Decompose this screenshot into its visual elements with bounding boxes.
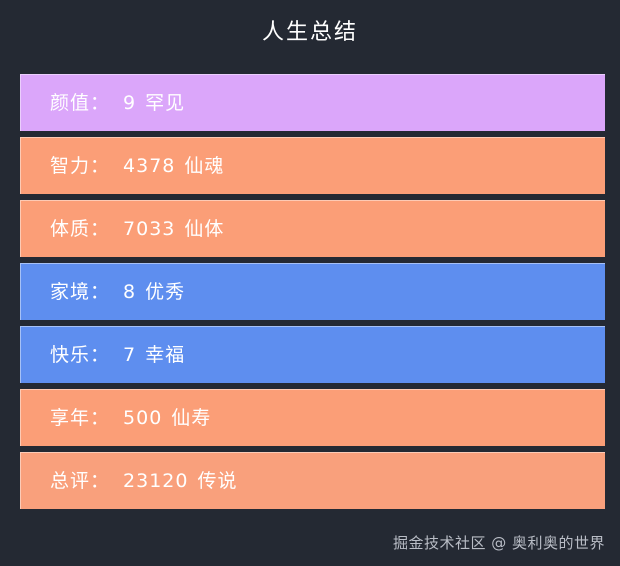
stat-label: 智力： [50, 157, 110, 176]
stat-rank: 仙魂 [184, 157, 224, 176]
stat-rank: 幸福 [145, 346, 185, 365]
stat-label: 快乐： [50, 346, 110, 365]
stat-text: 快乐：7幸福 [21, 346, 185, 365]
stat-value: 500 [123, 409, 162, 428]
stat-text: 享年：500仙寿 [21, 409, 211, 428]
stat-value: 4378 [123, 157, 175, 176]
stat-label: 享年： [50, 409, 110, 428]
page-title: 人生总结 [0, 0, 620, 44]
stat-label: 家境： [50, 283, 110, 302]
stat-text: 智力：4378仙魂 [21, 157, 224, 176]
stat-row: 家境：8优秀 [20, 263, 605, 320]
stat-row: 快乐：7幸福 [20, 326, 605, 383]
stat-text: 颜值：9罕见 [21, 94, 185, 113]
stat-value: 9 [123, 94, 136, 113]
stat-text: 体质：7033仙体 [21, 220, 224, 239]
stat-row: 享年：500仙寿 [20, 389, 605, 446]
stat-value: 23120 [123, 472, 188, 491]
life-summary-card: 人生总结 颜值：9罕见智力：4378仙魂体质：7033仙体家境：8优秀快乐：7幸… [0, 0, 620, 566]
stat-value: 7 [123, 346, 136, 365]
stat-label: 总评： [50, 472, 110, 491]
stat-rank: 仙寿 [171, 409, 211, 428]
stat-row: 颜值：9罕见 [20, 74, 605, 131]
footer-credit: 掘金技术社区 @ 奥利奥的世界 [0, 534, 605, 552]
stat-rank: 传说 [197, 472, 237, 491]
stat-rank: 罕见 [145, 94, 185, 113]
stat-value: 8 [123, 283, 136, 302]
stat-text: 总评：23120传说 [21, 472, 237, 491]
stat-row: 智力：4378仙魂 [20, 137, 605, 194]
stat-row: 总评：23120传说 [20, 452, 605, 509]
stat-rank: 优秀 [145, 283, 185, 302]
stat-rank: 仙体 [184, 220, 224, 239]
stat-label: 颜值： [50, 94, 110, 113]
stat-value: 7033 [123, 220, 175, 239]
stat-label: 体质： [50, 220, 110, 239]
stat-list: 颜值：9罕见智力：4378仙魂体质：7033仙体家境：8优秀快乐：7幸福享年：5… [20, 74, 605, 515]
stat-text: 家境：8优秀 [21, 283, 185, 302]
stat-row: 体质：7033仙体 [20, 200, 605, 257]
